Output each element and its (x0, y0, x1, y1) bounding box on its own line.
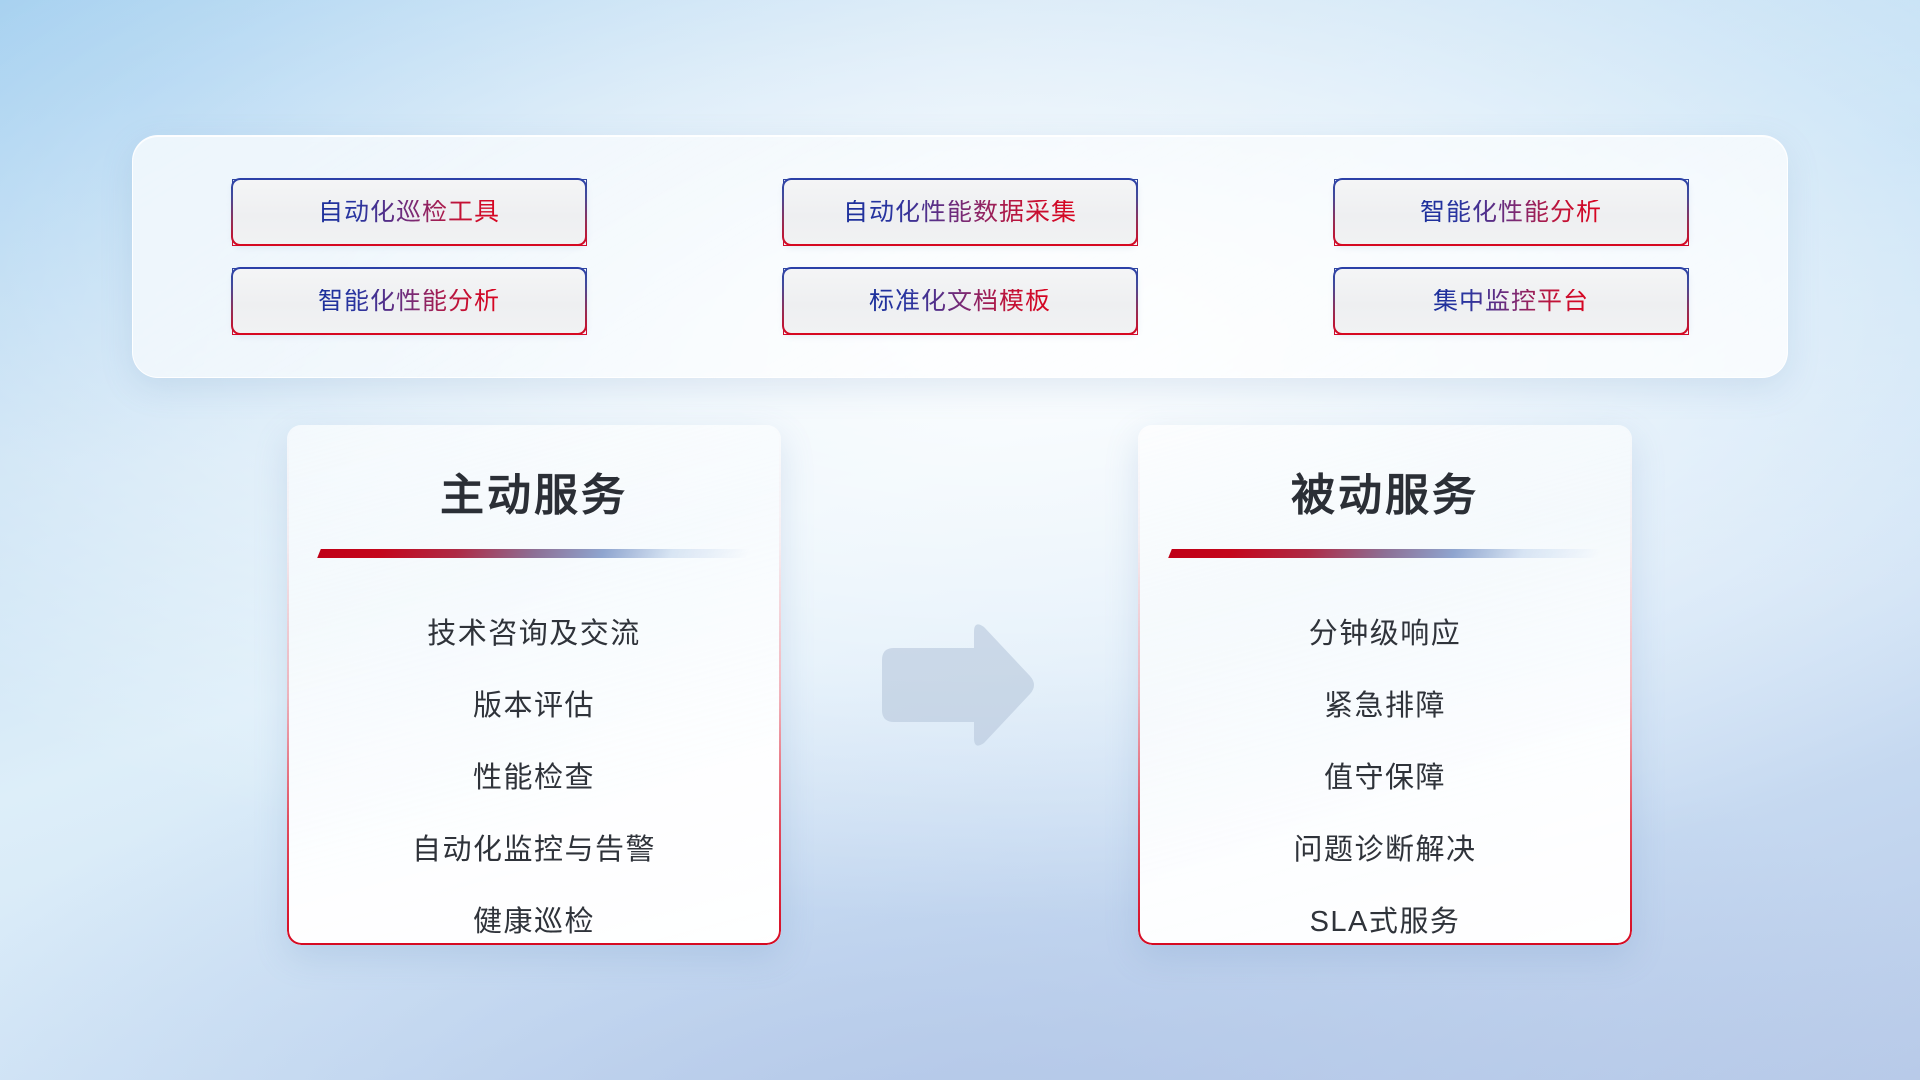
capability-chip-label: 标准化文档模板 (869, 289, 1051, 314)
right-arrow-icon (874, 618, 1038, 752)
capability-chip-standardized-doc-template[interactable]: 标准化文档模板 (783, 268, 1138, 335)
card-divider (1168, 549, 1602, 558)
service-item: 技术咨询及交流 (287, 598, 781, 670)
card-divider (317, 549, 751, 558)
service-card-reactive: 被动服务 分钟级响应 紧急排障 值守保障 问题诊断解决 SLA式服务 (1138, 425, 1632, 945)
card-title: 被动服务 (1138, 459, 1632, 523)
service-item: SLA式服务 (1138, 886, 1632, 945)
capability-chip-automated-inspection-tool[interactable]: 自动化巡检工具 (232, 179, 587, 246)
slide-canvas: 自动化巡检工具 自动化性能数据采集 智能化性能分析 智能化性能分析 标准化文档模… (0, 0, 1920, 1080)
capability-chip-label: 智能化性能分析 (1420, 200, 1602, 225)
service-item: 版本评估 (287, 670, 781, 742)
capability-row-2: 智能化性能分析 标准化文档模板 集中监控平台 (133, 268, 1787, 335)
capability-chip-label: 自动化性能数据采集 (843, 200, 1077, 225)
service-item: 自动化监控与告警 (287, 814, 781, 886)
service-item: 问题诊断解决 (1138, 814, 1632, 886)
capability-chip-label: 智能化性能分析 (318, 289, 500, 314)
capability-chip-label: 自动化巡检工具 (318, 200, 500, 225)
capability-chip-label: 集中监控平台 (1433, 289, 1589, 314)
service-item: 紧急排障 (1138, 670, 1632, 742)
capability-chip-intelligent-performance-analysis[interactable]: 智能化性能分析 (232, 268, 587, 335)
capability-chip-intelligent-performance-analysis-top[interactable]: 智能化性能分析 (1334, 179, 1689, 246)
service-item: 分钟级响应 (1138, 598, 1632, 670)
service-item: 值守保障 (1138, 742, 1632, 814)
service-item-list: 技术咨询及交流 版本评估 性能检查 自动化监控与告警 健康巡检 (287, 598, 781, 945)
service-item-list: 分钟级响应 紧急排障 值守保障 问题诊断解决 SLA式服务 (1138, 598, 1632, 945)
service-item: 健康巡检 (287, 886, 781, 945)
capability-row-1: 自动化巡检工具 自动化性能数据采集 智能化性能分析 (133, 179, 1787, 246)
service-item: 性能检查 (287, 742, 781, 814)
capability-panel: 自动化巡检工具 自动化性能数据采集 智能化性能分析 智能化性能分析 标准化文档模… (132, 135, 1788, 378)
capability-chip-automated-performance-data-collection[interactable]: 自动化性能数据采集 (783, 179, 1138, 246)
capability-chip-centralized-monitoring-platform[interactable]: 集中监控平台 (1334, 268, 1689, 335)
card-title: 主动服务 (287, 459, 781, 523)
service-card-proactive: 主动服务 技术咨询及交流 版本评估 性能检查 自动化监控与告警 健康巡检 (287, 425, 781, 945)
